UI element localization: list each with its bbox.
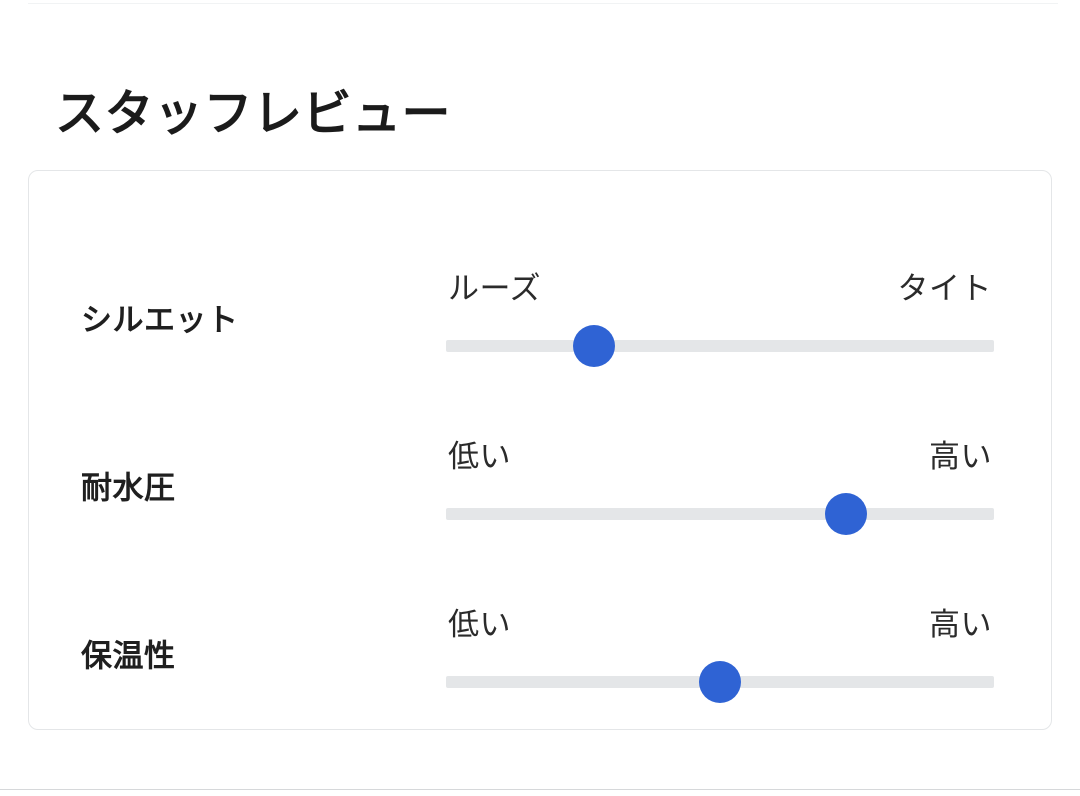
review-slider-group: 低い 高い [446, 599, 994, 709]
slider-track[interactable] [446, 340, 994, 352]
review-row: 保温性 低い 高い [29, 549, 1051, 717]
slider-min-label: 低い [448, 431, 511, 476]
staff-review-page: スタッフレビュー シルエット ルーズ タイト 耐水圧 [0, 0, 1080, 796]
review-row: シルエット ルーズ タイト [29, 213, 1051, 381]
slider-thumb[interactable] [573, 325, 615, 367]
review-slider[interactable] [446, 493, 994, 535]
review-card: シルエット ルーズ タイト 耐水圧 低い [28, 170, 1052, 730]
review-row-list: シルエット ルーズ タイト 耐水圧 低い [29, 171, 1051, 729]
slider-thumb[interactable] [825, 493, 867, 535]
slider-min-label: 低い [448, 599, 511, 644]
review-slider[interactable] [446, 661, 994, 703]
review-slider-group: ルーズ タイト [446, 263, 994, 373]
top-divider [28, 3, 1058, 4]
review-row: 耐水圧 低い 高い [29, 381, 1051, 549]
slider-endpoint-labels: 低い 高い [446, 599, 994, 644]
review-row-label: 耐水圧 [81, 463, 176, 508]
review-row-label: シルエット [81, 295, 239, 340]
slider-endpoint-labels: 低い 高い [446, 431, 994, 476]
slider-max-label: タイト [898, 263, 993, 308]
review-row-label: 保温性 [81, 631, 176, 676]
bottom-divider [0, 789, 1080, 790]
page-title: スタッフレビュー [55, 85, 451, 144]
review-slider-group: 低い 高い [446, 431, 994, 541]
slider-endpoint-labels: ルーズ タイト [446, 263, 994, 308]
slider-max-label: 高い [929, 431, 992, 476]
slider-min-label: ルーズ [448, 263, 541, 308]
slider-thumb[interactable] [699, 661, 741, 703]
slider-track[interactable] [446, 508, 994, 520]
slider-max-label: 高い [929, 599, 992, 644]
review-slider[interactable] [446, 325, 994, 367]
